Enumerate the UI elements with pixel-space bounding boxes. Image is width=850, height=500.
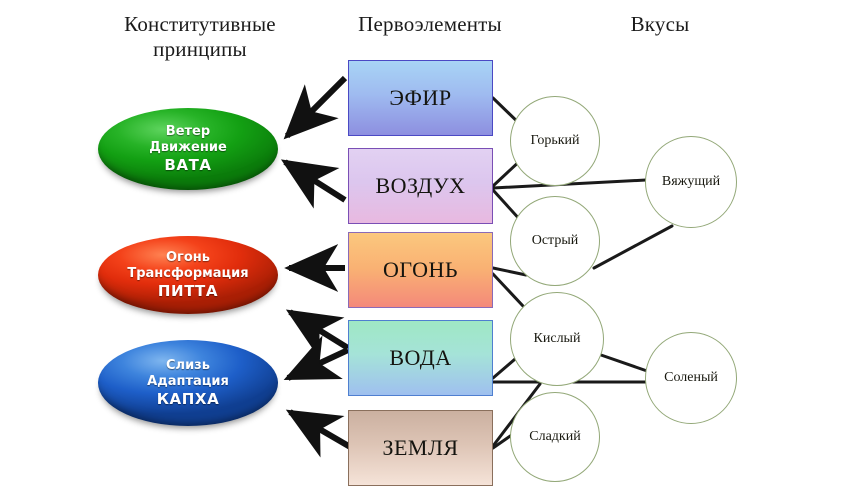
- element-earth[interactable]: ЗЕМЛЯ: [348, 410, 493, 486]
- dosha-vata-line1: Ветер: [166, 124, 210, 140]
- arrow-earth-to-kapha: [290, 412, 352, 448]
- link-sour-salty: [601, 355, 650, 372]
- element-air[interactable]: ВОЗДУХ: [348, 148, 493, 224]
- element-fire[interactable]: ОГОНЬ: [348, 232, 493, 308]
- arrow-water-to-kapha: [288, 350, 348, 378]
- arrow-air-to-vata: [285, 162, 345, 200]
- link-pungent-astringent: [594, 226, 672, 268]
- link-fire-sour: [493, 274, 523, 306]
- taste-pungent-label: Острый: [532, 233, 579, 249]
- dosha-pitta-line2: Трансформация: [127, 266, 248, 282]
- taste-bitter[interactable]: Горький: [510, 96, 600, 186]
- dosha-vata-name: ВАТА: [164, 156, 211, 174]
- dosha-kapha-line2: Адаптация: [147, 374, 229, 390]
- arrow-ether-to-vata: [287, 78, 345, 136]
- dosha-kapha-name: КАПХА: [157, 390, 220, 408]
- dosha-kapha-line1: Слизь: [166, 358, 210, 374]
- element-water-label: ВОДА: [389, 345, 451, 371]
- taste-salty[interactable]: Соленый: [645, 332, 737, 424]
- dosha-vata[interactable]: Ветер Движение ВАТА: [98, 108, 278, 190]
- dosha-kapha[interactable]: Слизь Адаптация КАПХА: [98, 340, 278, 426]
- element-ether[interactable]: ЭФИР: [348, 60, 493, 136]
- dosha-vata-line2: Движение: [149, 140, 227, 156]
- taste-sweet-label: Сладкий: [529, 429, 580, 445]
- column-heading-principles: Конститутивные принципы: [70, 12, 330, 62]
- taste-sour[interactable]: Кислый: [510, 292, 604, 386]
- taste-pungent[interactable]: Острый: [510, 196, 600, 286]
- element-fire-label: ОГОНЬ: [383, 257, 458, 283]
- element-water[interactable]: ВОДА: [348, 320, 493, 396]
- column-heading-elements: Первоэлементы: [320, 12, 540, 37]
- element-ether-label: ЭФИР: [389, 85, 451, 111]
- diagram-canvas: Конститутивные принципы Первоэлементы Вк…: [0, 0, 850, 500]
- taste-sweet[interactable]: Сладкий: [510, 392, 600, 482]
- taste-sour-label: Кислый: [534, 331, 581, 347]
- arrow-water-to-pitta: [290, 312, 348, 348]
- taste-salty-label: Соленый: [664, 370, 718, 386]
- dosha-pitta[interactable]: Огонь Трансформация ПИТТА: [98, 236, 278, 314]
- taste-bitter-label: Горький: [530, 133, 579, 149]
- dosha-pitta-name: ПИТТА: [158, 282, 218, 300]
- column-heading-tastes: Вкусы: [560, 12, 760, 37]
- taste-astringent[interactable]: Вяжущий: [645, 136, 737, 228]
- element-air-label: ВОЗДУХ: [376, 173, 466, 199]
- dosha-pitta-line1: Огонь: [166, 250, 210, 266]
- element-earth-label: ЗЕМЛЯ: [382, 435, 458, 461]
- taste-astringent-label: Вяжущий: [662, 174, 720, 190]
